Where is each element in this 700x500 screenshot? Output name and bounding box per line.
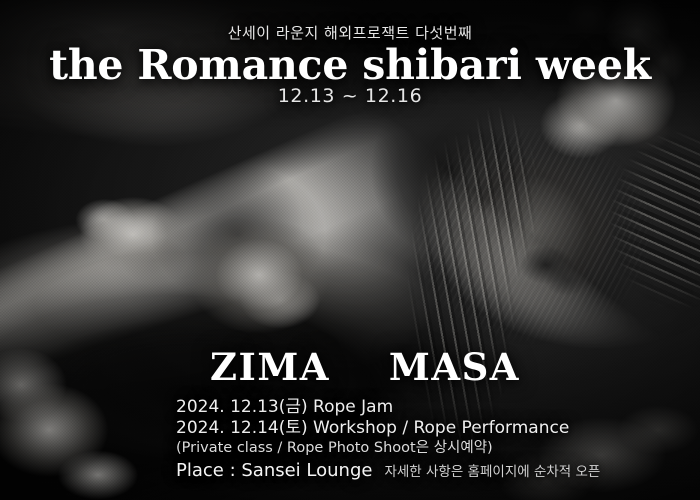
place-note: 자세한 사항은 홈페이지에 순차적 오픈 — [384, 460, 600, 480]
place-label: Place : Sansei Lounge — [176, 460, 372, 481]
performer-names: ZIMA MASA — [210, 345, 520, 389]
performer-name-masa: MASA — [389, 345, 520, 389]
poster-canvas: 산세이 라운지 해외프로잭트 다섯번째 the Romance shibari … — [0, 0, 700, 500]
place-block: Place : Sansei Lounge 자세한 사항은 홈페이지에 순차적 … — [176, 460, 600, 481]
poster-kicker: 산세이 라운지 해외프로잭트 다섯번째 — [0, 22, 700, 43]
poster-title: the Romance shibari week — [0, 44, 700, 87]
poster-date-range: 12.13 ~ 12.16 — [0, 85, 700, 107]
poster-content: 산세이 라운지 해외프로잭트 다섯번째 the Romance shibari … — [0, 0, 700, 500]
performer-name-zima: ZIMA — [210, 345, 330, 389]
schedule-block: 2024. 12.13(금) Rope Jam 2024. 12.14(토) W… — [176, 397, 569, 457]
schedule-note: (Private class / Rope Photo Shoot은 상시예약) — [176, 439, 569, 457]
schedule-line-2: 2024. 12.14(토) Workshop / Rope Performan… — [176, 418, 569, 439]
schedule-line-1: 2024. 12.13(금) Rope Jam — [176, 397, 569, 418]
